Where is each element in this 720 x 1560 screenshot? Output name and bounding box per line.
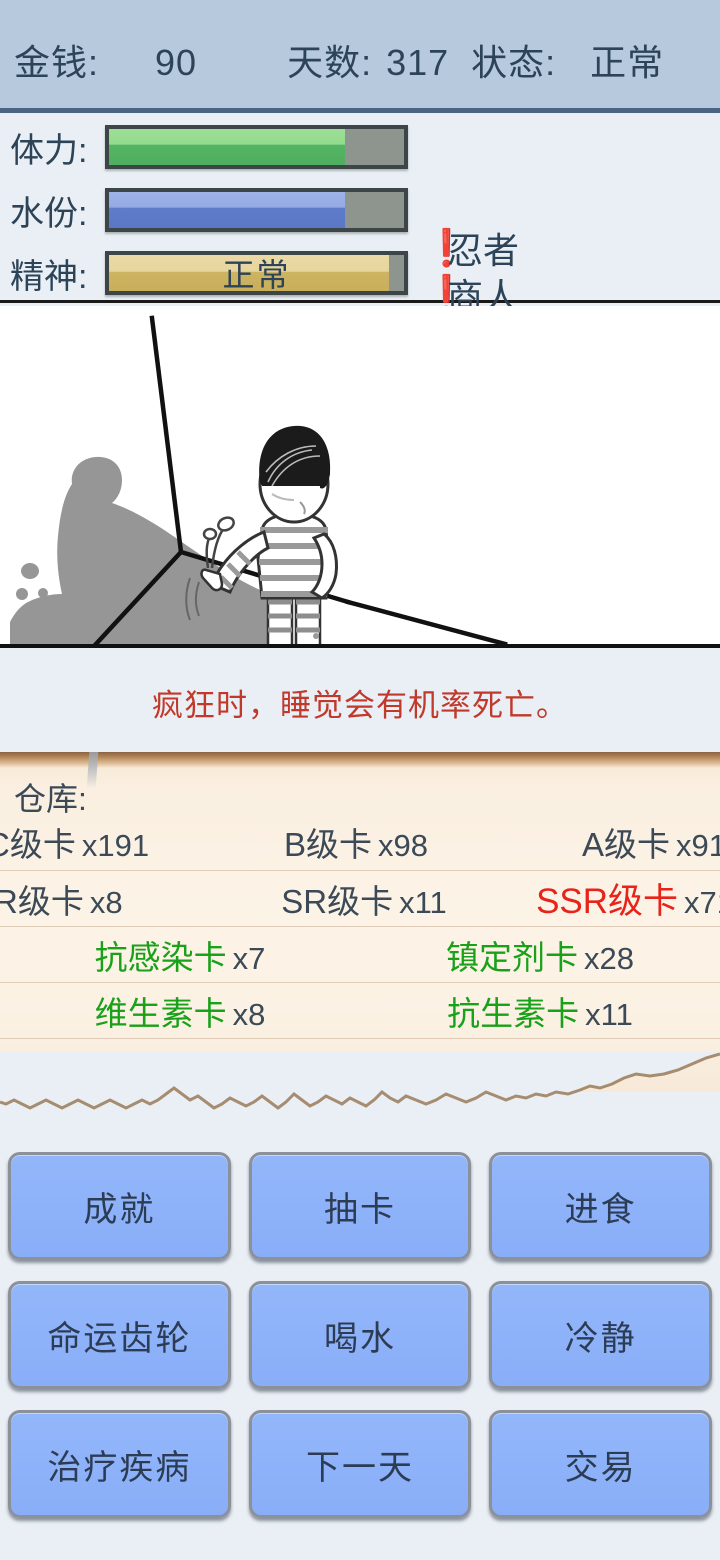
stats-panel: 体力: 水份: 精神: 正常 ❗ 忍者	[0, 113, 720, 303]
inventory-row: 抗感染卡 x7 镇定剂卡 x28	[0, 926, 720, 982]
drink-water-button[interactable]: 喝水	[249, 1281, 472, 1389]
stat-row-water: 水份:	[0, 183, 420, 237]
stamina-bar	[105, 125, 408, 169]
day-value: 317	[386, 42, 449, 84]
item-qty: x8	[233, 997, 266, 1033]
state-value: 正常	[590, 34, 664, 86]
item-name: 维生素卡	[95, 987, 227, 1035]
event-message: 疯狂时，睡觉会有机率死亡。	[0, 652, 720, 752]
item-name: SR级卡	[281, 875, 393, 923]
item-qty: x91	[676, 828, 720, 864]
inventory-row: 维生素卡 x8 抗生素卡 x11	[0, 982, 720, 1038]
stat-row-spirit: 精神: 正常	[0, 246, 420, 300]
item-qty: x28	[584, 941, 634, 977]
button-row: 命运齿轮 喝水 冷静	[8, 1281, 712, 1389]
item-name: C级卡	[0, 818, 76, 866]
money-value: 90	[155, 42, 197, 84]
stat-label-spirit: 精神:	[0, 249, 105, 298]
treat-illness-button[interactable]: 治疗疾病	[8, 1410, 231, 1518]
event-message-text: 疯狂时，睡觉会有机率死亡。	[152, 680, 568, 725]
inventory-item[interactable]: 维生素卡 x8	[0, 987, 360, 1035]
inventory-row: R级卡 x8 SR级卡 x11 SSR级卡 x71	[0, 870, 720, 926]
paper-top-edge	[0, 752, 720, 768]
item-qty: x11	[399, 885, 447, 921]
inventory-item[interactable]: R级卡 x8	[0, 875, 241, 923]
trade-button[interactable]: 交易	[489, 1410, 712, 1518]
money-label: 金钱:	[14, 34, 99, 86]
buff-item[interactable]: ❗ 忍者	[424, 225, 720, 271]
item-qty: x8	[90, 885, 123, 921]
inventory-row: C级卡 x191 B级卡 x98 A级卡 x91	[0, 814, 720, 870]
item-qty: x191	[82, 828, 149, 864]
inventory-item[interactable]: A级卡 x91	[479, 818, 720, 866]
item-qty: x98	[378, 828, 428, 864]
status-header: 金钱: 90 天数: 317 状态: 正常	[0, 0, 720, 113]
item-name: 抗生素卡	[447, 987, 579, 1035]
spirit-bar: 正常	[105, 251, 408, 295]
inventory-item[interactable]: 抗感染卡 x7	[0, 931, 360, 979]
item-name: R级卡	[0, 875, 84, 923]
stat-label-water: 水份:	[0, 186, 105, 235]
game-screen: 金钱: 90 天数: 317 状态: 正常 体力: 水份:	[0, 0, 720, 1560]
inventory-panel: 仓库: C级卡 x191 B级卡 x98 A级卡 x91 R级卡	[0, 752, 720, 1127]
item-name: 镇定剂卡	[446, 931, 578, 979]
paper-torn-bottom-edge	[0, 1052, 720, 1127]
item-qty: x71	[684, 885, 720, 921]
action-button-grid: 成就 抽卡 进食 命运齿轮 喝水 冷静 治疗疾病 下一天 交易	[0, 1146, 720, 1524]
water-bar	[105, 188, 408, 232]
scene-illustration	[0, 306, 720, 648]
item-qty: x11	[585, 997, 633, 1033]
inventory-item[interactable]: SSR级卡 x71	[487, 873, 720, 924]
exclamation-icon: ❗	[424, 230, 446, 266]
item-name: A级卡	[582, 818, 670, 866]
spirit-bar-text: 正常	[109, 255, 404, 291]
button-row: 治疗疾病 下一天 交易	[8, 1410, 712, 1518]
item-name: SSR级卡	[536, 873, 678, 924]
inventory-item[interactable]: SR级卡 x11	[241, 875, 488, 923]
buff-label: 忍者	[447, 222, 519, 274]
water-bar-text	[109, 192, 404, 228]
state-label: 状态:	[471, 34, 556, 86]
stat-row-stamina: 体力:	[0, 120, 420, 174]
stat-label-stamina: 体力:	[0, 123, 105, 172]
achievements-button[interactable]: 成就	[8, 1152, 231, 1260]
inventory-item[interactable]: 镇定剂卡 x28	[360, 931, 720, 979]
eat-button[interactable]: 进食	[489, 1152, 712, 1260]
day-label: 天数:	[287, 34, 372, 86]
inventory-item[interactable]: 抗生素卡 x11	[360, 987, 720, 1035]
draw-card-button[interactable]: 抽卡	[249, 1152, 472, 1260]
item-qty: x7	[233, 941, 266, 977]
item-name: 抗感染卡	[95, 931, 227, 979]
item-name: B级卡	[284, 818, 372, 866]
inventory-item[interactable]: B级卡 x98	[233, 818, 480, 866]
next-day-button[interactable]: 下一天	[249, 1410, 472, 1518]
inventory-item[interactable]: C级卡 x191	[0, 818, 233, 866]
stamina-bar-text	[109, 129, 404, 165]
calm-down-button[interactable]: 冷静	[489, 1281, 712, 1389]
button-row: 成就 抽卡 进食	[8, 1152, 712, 1260]
fate-gear-button[interactable]: 命运齿轮	[8, 1281, 231, 1389]
